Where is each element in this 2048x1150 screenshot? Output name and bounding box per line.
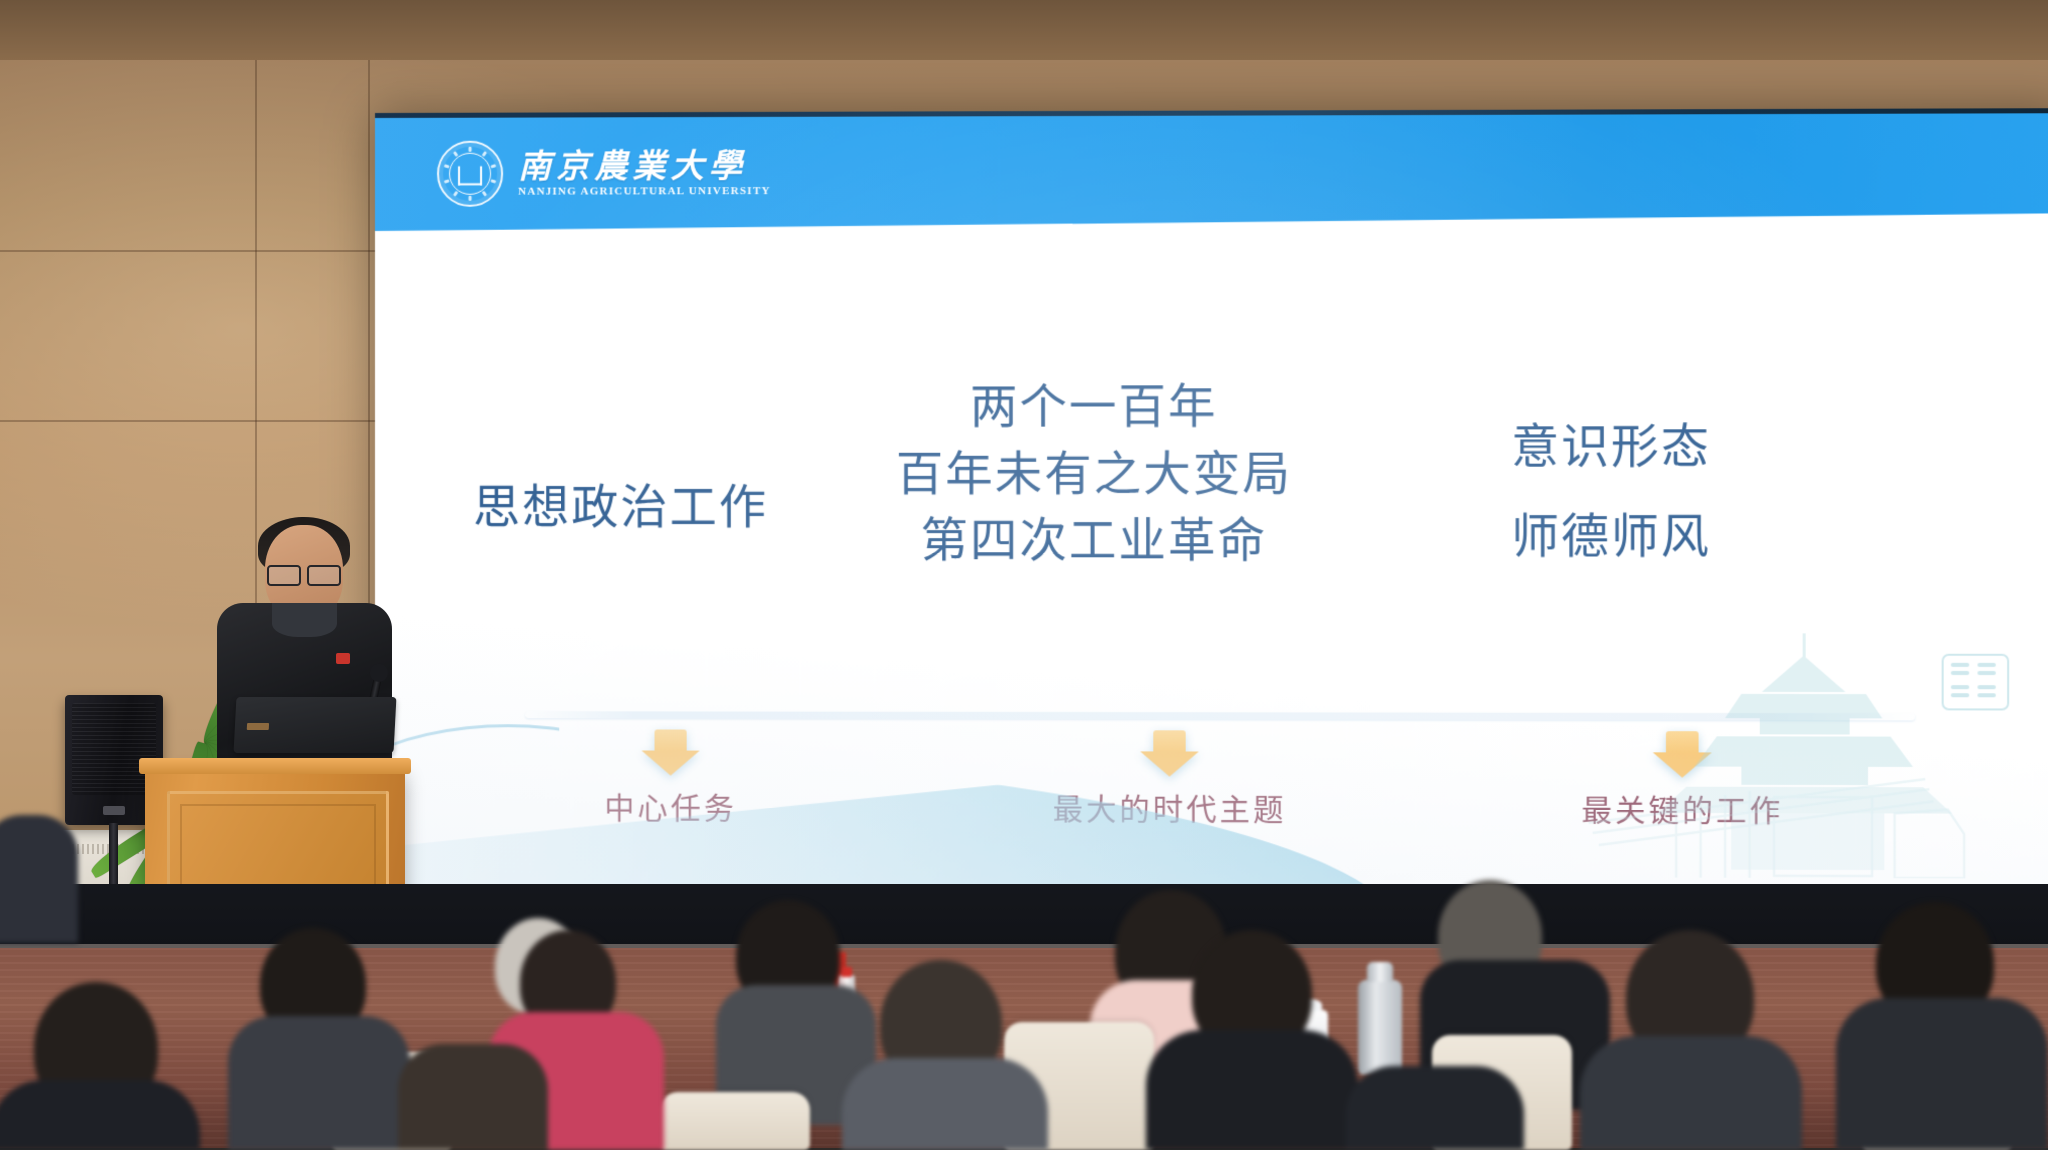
audience-person — [0, 1080, 200, 1150]
audience-person — [1580, 1036, 1802, 1150]
audience-person — [228, 1016, 410, 1150]
conference-hall-scene: 南京農業大學 NANJING AGRICULTURAL UNIVERSITY 思… — [0, 0, 2048, 1150]
audience-person — [0, 815, 78, 943]
audience-person — [1146, 1030, 1358, 1150]
audience-person — [398, 1044, 548, 1150]
audience-person — [1346, 1066, 1524, 1150]
audience-person — [842, 1058, 1048, 1150]
audience-front-rows — [0, 0, 2048, 1150]
audience-person — [1836, 998, 2048, 1150]
